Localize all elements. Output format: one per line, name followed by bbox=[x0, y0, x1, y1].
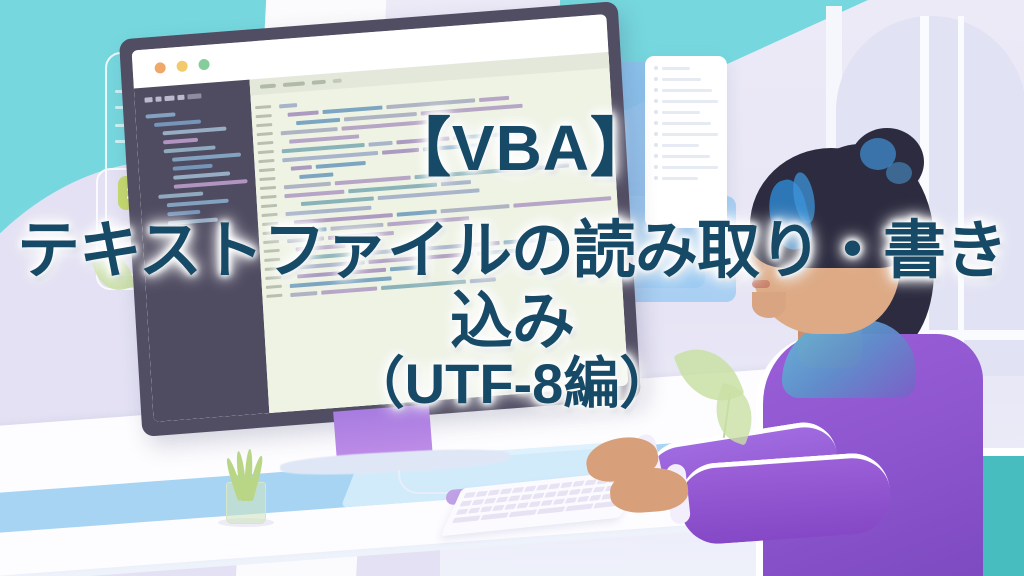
title-block: 【VBA】 テキストファイルの読み取り・書き込み （UTF-8編） bbox=[0, 116, 1024, 415]
key[interactable] bbox=[472, 499, 484, 505]
key[interactable] bbox=[480, 506, 492, 512]
key[interactable] bbox=[589, 495, 601, 501]
key[interactable] bbox=[548, 483, 560, 489]
key[interactable] bbox=[569, 489, 581, 495]
list-item[interactable] bbox=[654, 99, 718, 103]
key[interactable] bbox=[452, 515, 481, 523]
key[interactable] bbox=[572, 481, 584, 487]
key[interactable] bbox=[560, 482, 572, 488]
key[interactable] bbox=[504, 504, 516, 510]
key[interactable] bbox=[496, 497, 508, 503]
tag-label: 【VBA】 bbox=[18, 116, 1024, 180]
key[interactable] bbox=[480, 512, 509, 520]
key[interactable] bbox=[565, 497, 577, 503]
key[interactable] bbox=[528, 501, 540, 507]
key[interactable] bbox=[476, 491, 488, 497]
key[interactable] bbox=[520, 494, 532, 500]
key[interactable] bbox=[512, 487, 524, 493]
key[interactable] bbox=[537, 506, 566, 514]
key[interactable] bbox=[584, 479, 596, 485]
key[interactable] bbox=[565, 503, 594, 511]
key[interactable] bbox=[508, 495, 520, 501]
key[interactable] bbox=[460, 500, 472, 506]
arm-near bbox=[677, 451, 892, 546]
list-item[interactable] bbox=[654, 110, 718, 114]
key[interactable] bbox=[532, 493, 544, 499]
key[interactable] bbox=[509, 509, 538, 517]
key[interactable] bbox=[524, 486, 536, 492]
key[interactable] bbox=[468, 507, 480, 513]
potted-plant bbox=[226, 482, 266, 524]
page-title: テキストファイルの読み取り・書き込み bbox=[0, 216, 1024, 357]
close-dot-icon[interactable] bbox=[154, 62, 166, 74]
key[interactable] bbox=[541, 500, 553, 506]
key[interactable] bbox=[553, 498, 565, 504]
key[interactable] bbox=[488, 489, 500, 495]
minimize-dot-icon[interactable] bbox=[176, 60, 188, 72]
key[interactable] bbox=[556, 490, 568, 496]
key[interactable] bbox=[484, 498, 496, 504]
maximize-dot-icon[interactable] bbox=[198, 59, 210, 71]
key[interactable] bbox=[536, 484, 548, 490]
page-subtitle: （UTF-8編） bbox=[0, 353, 1024, 415]
thumbnail-canvas: 【VBA】 テキストファイルの読み取り・書き込み （UTF-8編） bbox=[0, 0, 1024, 576]
key[interactable] bbox=[516, 502, 528, 508]
key[interactable] bbox=[500, 488, 512, 494]
list-item[interactable] bbox=[654, 77, 718, 81]
list-item[interactable] bbox=[654, 66, 718, 70]
explorer-header bbox=[144, 90, 242, 103]
key[interactable] bbox=[492, 505, 504, 511]
key[interactable] bbox=[577, 496, 589, 502]
key[interactable] bbox=[593, 486, 605, 492]
list-item[interactable] bbox=[654, 88, 718, 92]
key[interactable] bbox=[463, 492, 475, 498]
key[interactable] bbox=[544, 491, 556, 497]
key[interactable] bbox=[456, 509, 468, 515]
key[interactable] bbox=[581, 488, 593, 494]
